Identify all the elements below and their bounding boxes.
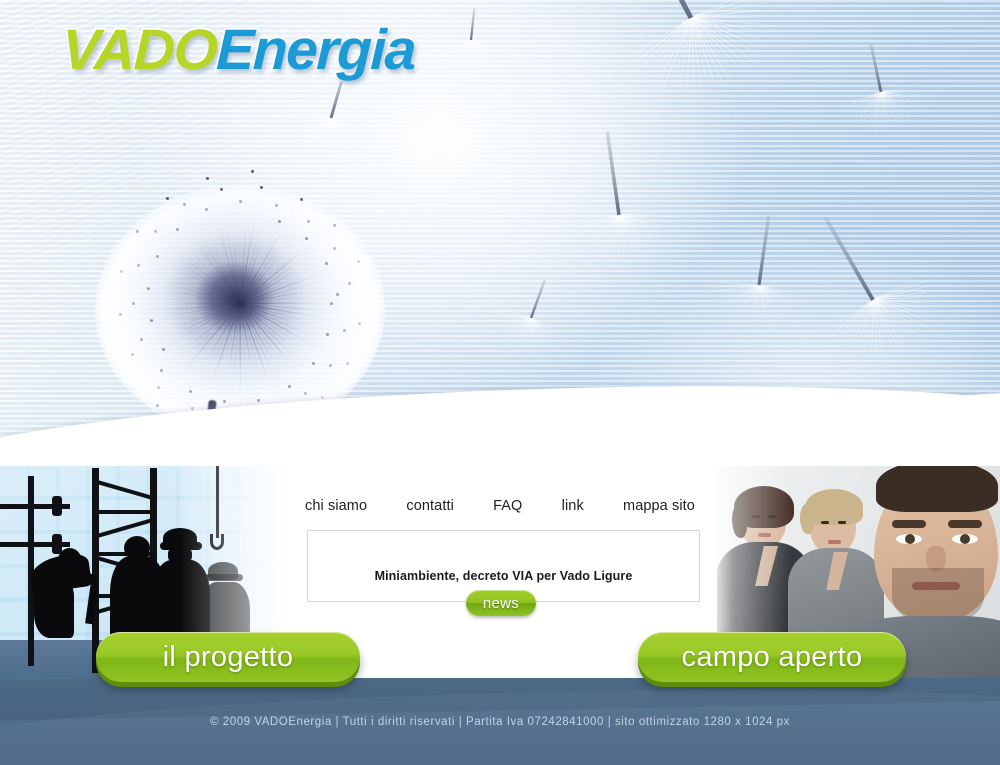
il-progetto-button[interactable]: il progetto [96,632,360,682]
crane-hook [210,534,224,550]
worker-legs [34,578,74,638]
nav-item-faq[interactable]: FAQ [493,498,522,514]
logo-vado: VADO [61,18,218,82]
tower-leg [92,468,99,673]
crane-cable [216,466,219,538]
hair-side [732,504,747,538]
mouth [758,533,771,537]
dandelion-seed-dot [206,177,209,180]
eye [821,521,829,524]
dandelion-fluff [99,191,381,431]
dandelion-seed-dot [300,198,303,201]
scaffold-clamp [52,496,62,516]
news-headline[interactable]: Miniambiente, decreto VIA per Vado Ligur… [375,569,633,583]
il-progetto-label: il progetto [163,641,294,674]
dandelion-seed [689,15,692,18]
eyebrow [892,520,926,528]
eye [768,515,776,518]
dandelion-seed [330,116,332,118]
dandelion-seed [530,317,532,319]
iris [905,534,915,544]
logo-energia: Energia [215,18,416,82]
mouth [828,540,841,544]
main-navigation[interactable]: chi siamo contatti FAQ link mappa sito [283,498,717,514]
hair [876,466,998,512]
eyebrow [948,520,982,528]
dandelion-seed-dot [260,186,263,189]
dandelion-seed [880,90,882,92]
dandelion-seed [618,213,620,215]
dandelion-seed [758,283,760,285]
campo-aperto-label: campo aperto [682,641,863,674]
nav-item-mappa-sito[interactable]: mappa sito [623,498,695,514]
worker-helmet-brim [205,574,243,581]
news-button[interactable]: news [466,590,536,616]
dandelion-seed [871,298,874,301]
eye [752,515,760,518]
page-root: chi siamo contatti FAQ link mappa sito M… [0,0,1000,765]
nav-item-link[interactable]: link [562,498,584,514]
dandelion-seed-dot [220,188,223,191]
site-logo[interactable]: VADOEnergia [61,22,416,79]
iris [960,534,970,544]
footer: © 2009 VADOEnergia | Tutti i diritti ris… [0,678,1000,765]
nav-item-chi-siamo[interactable]: chi siamo [305,498,367,514]
nav-item-contatti[interactable]: contatti [406,498,454,514]
tower-rung [92,510,157,514]
eye [838,521,846,524]
news-button-label: news [483,595,519,612]
footer-copyright: © 2009 VADOEnergia | Tutti i diritti ris… [0,716,1000,728]
dandelion-seed [470,39,471,40]
campo-aperto-button[interactable]: campo aperto [638,632,906,682]
hair-side [800,504,814,534]
